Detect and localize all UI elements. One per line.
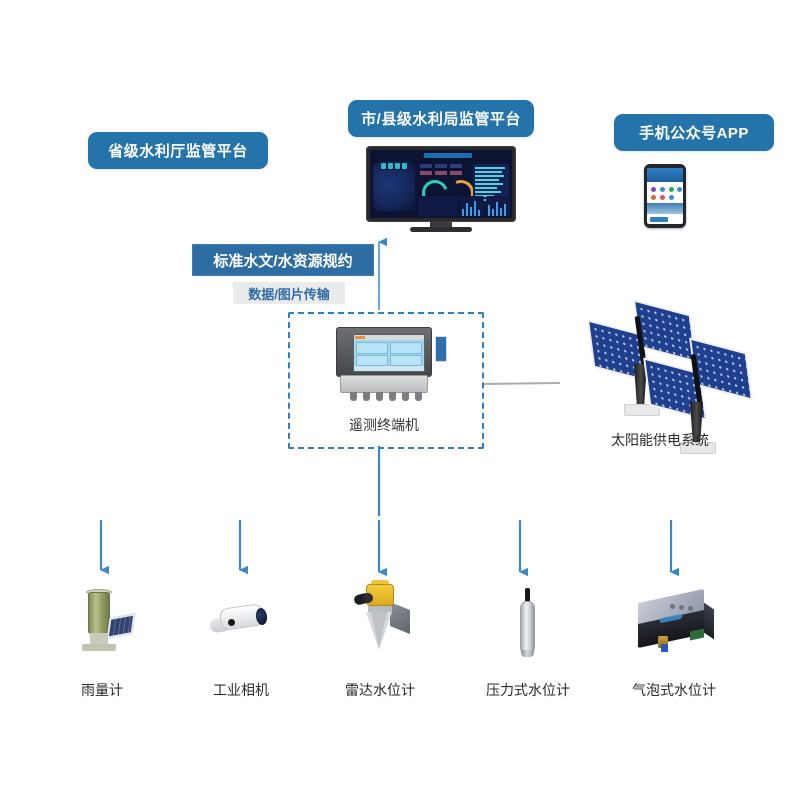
phone-screen [647, 168, 683, 224]
solar-system-label: 太阳能供电系统 [580, 430, 740, 450]
dashboard-screen [370, 150, 512, 218]
protocol-label: 标准水文/水资源规约 [192, 244, 374, 276]
diagram-canvas: 省级水利厅监管平台 市/县级水利局监管平台 手机公众号APP [0, 0, 800, 800]
monitor-icon [366, 146, 516, 234]
radar-level-icon [344, 582, 420, 662]
bubbler-level-icon [630, 586, 722, 660]
sensor-label-bubbler-level: 气泡式水位计 [604, 680, 744, 700]
sensor-label-rain-gauge: 雨量计 [52, 680, 152, 700]
pressure-level-icon [496, 588, 560, 662]
platform-box-province[interactable]: 省级水利厅监管平台 [88, 132, 268, 169]
rtu-label: 遥测终端机 [288, 415, 480, 435]
rain-gauge-icon [66, 588, 138, 658]
monitor-bezel [366, 146, 516, 222]
rtu-device-icon [330, 327, 442, 401]
smartphone-icon [644, 164, 686, 228]
sensor-label-radar-level: 雷达水位计 [318, 680, 442, 700]
data-transfer-label: 数据/图片传输 [233, 282, 345, 304]
sensor-label-pressure-level: 压力式水位计 [458, 680, 598, 700]
monitor-stand-base [410, 227, 472, 232]
platform-box-mobile-app[interactable]: 手机公众号APP [614, 114, 774, 151]
platform-box-city-county[interactable]: 市/县级水利局监管平台 [348, 100, 534, 137]
camera-icon [206, 592, 282, 652]
sensor-label-industrial-camera: 工业相机 [186, 680, 296, 700]
